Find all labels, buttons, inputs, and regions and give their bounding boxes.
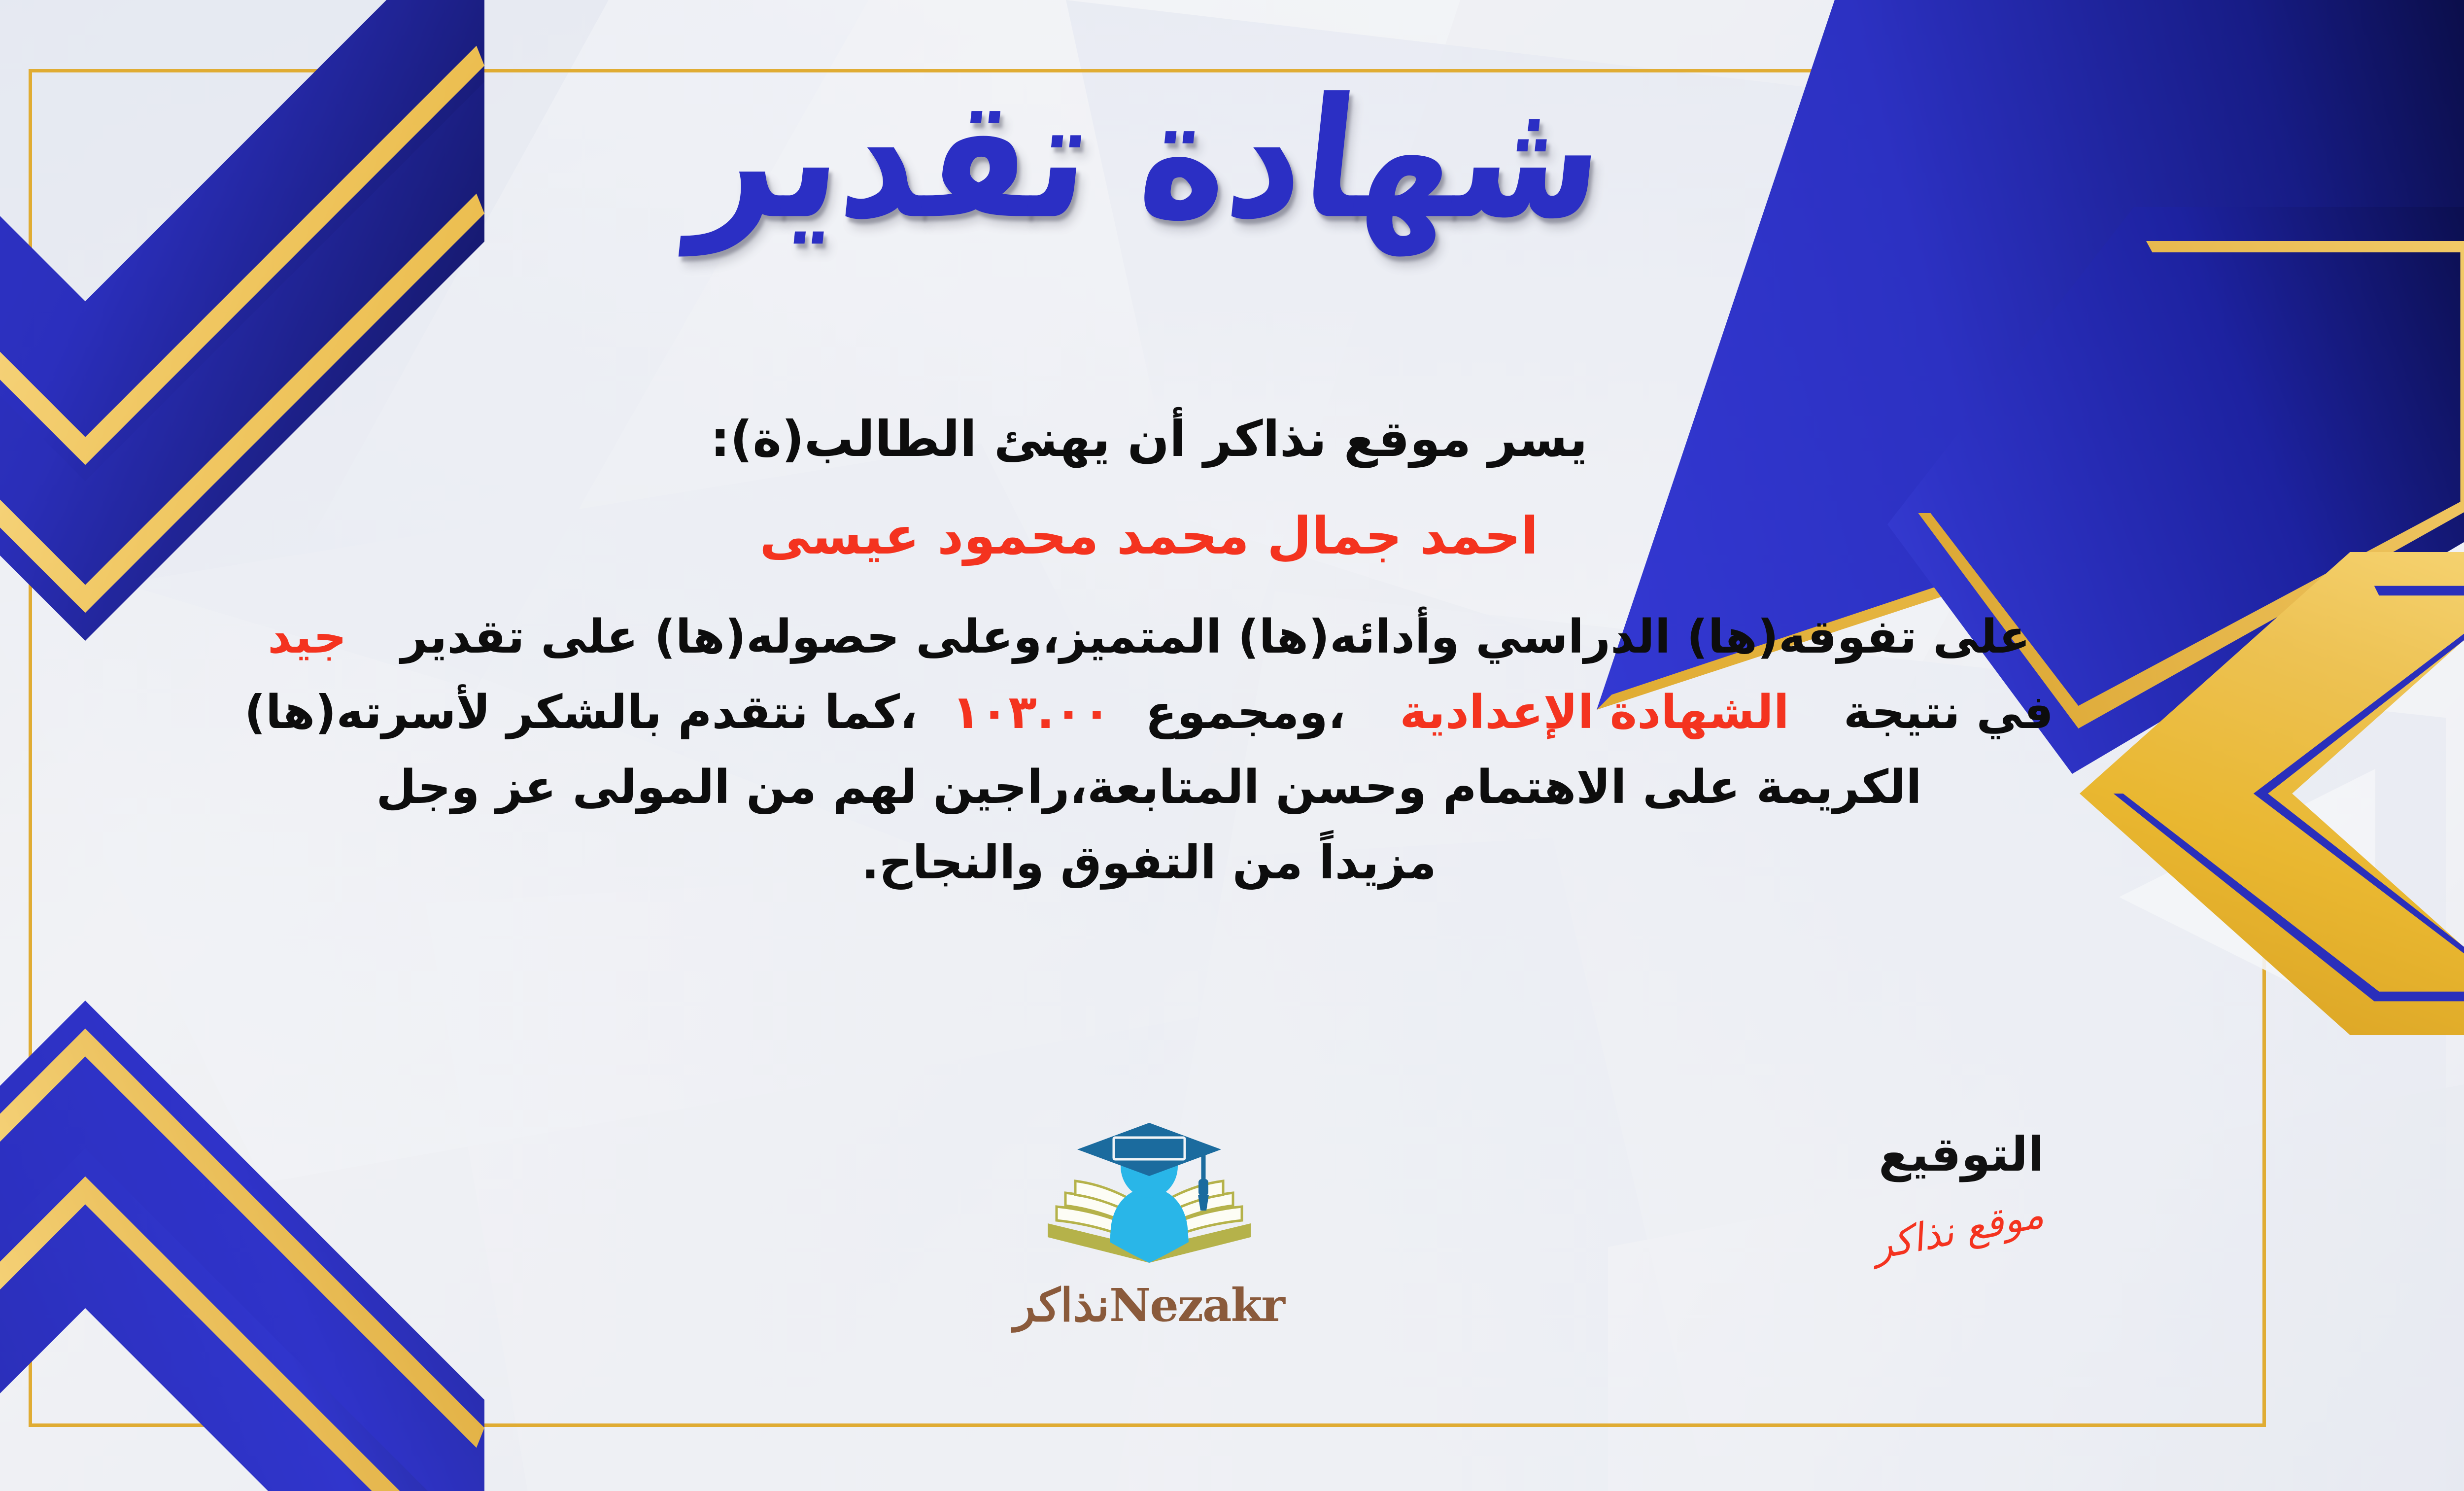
- signature-area: التوقيع موقع نذاكر: [1809, 1129, 2114, 1252]
- certificate-canvas: شهادة تقدير يسر موقع نذاكر أن يهنئ الطال…: [0, 0, 2464, 1491]
- certificate-footer: التوقيع موقع نذاكر: [46, 1129, 2252, 1444]
- body-line-2-prefix: في نتيجة: [1844, 686, 2053, 739]
- site-logo: Nezakrنذاكر: [962, 1119, 1336, 1332]
- greeting-line: يسر موقع نذاكر أن يهنئ الطالب(ة):: [46, 404, 2252, 474]
- signature-label: التوقيع: [1809, 1129, 2114, 1181]
- grade-value: جيد: [268, 610, 346, 664]
- body-line-4: مزيداً من التفوق والنجاح.: [46, 828, 2252, 899]
- total-label: ،ومجموع: [1145, 686, 1345, 739]
- student-name: احمد جمال محمد محمود عيسى: [46, 500, 2252, 573]
- title-container: شهادة تقدير: [0, 74, 2464, 244]
- logo-wordmark: Nezakrنذاكر: [962, 1279, 1336, 1332]
- exam-name: الشهادة الإعدادية: [1400, 686, 1789, 739]
- body-line-2: في نتيجةالشهادة الإعدادية،ومجموع١٠٣.٠٠،ك…: [46, 678, 2252, 748]
- certificate-title: شهادة تقدير: [685, 64, 1613, 254]
- signature-mark: موقع نذاكر: [1876, 1190, 2048, 1269]
- body-line-1-text: على تفوقه(ها) الدراسي وأدائه(ها) المتميز…: [401, 610, 2030, 664]
- body-line-2-suffix: ،كما نتقدم بالشكر لأسرته(ها): [244, 686, 918, 739]
- body-line-3: الكريمة على الاهتمام وحسن المتابعة،راجين…: [46, 753, 2252, 823]
- graduation-book-icon: [1031, 1119, 1267, 1282]
- total-score: ١٠٣.٠٠: [952, 686, 1111, 739]
- body-line-1: على تفوقه(ها) الدراسي وأدائه(ها) المتميز…: [46, 602, 2252, 673]
- certificate-body: يسر موقع نذاكر أن يهنئ الطالب(ة): احمد ج…: [46, 404, 2252, 903]
